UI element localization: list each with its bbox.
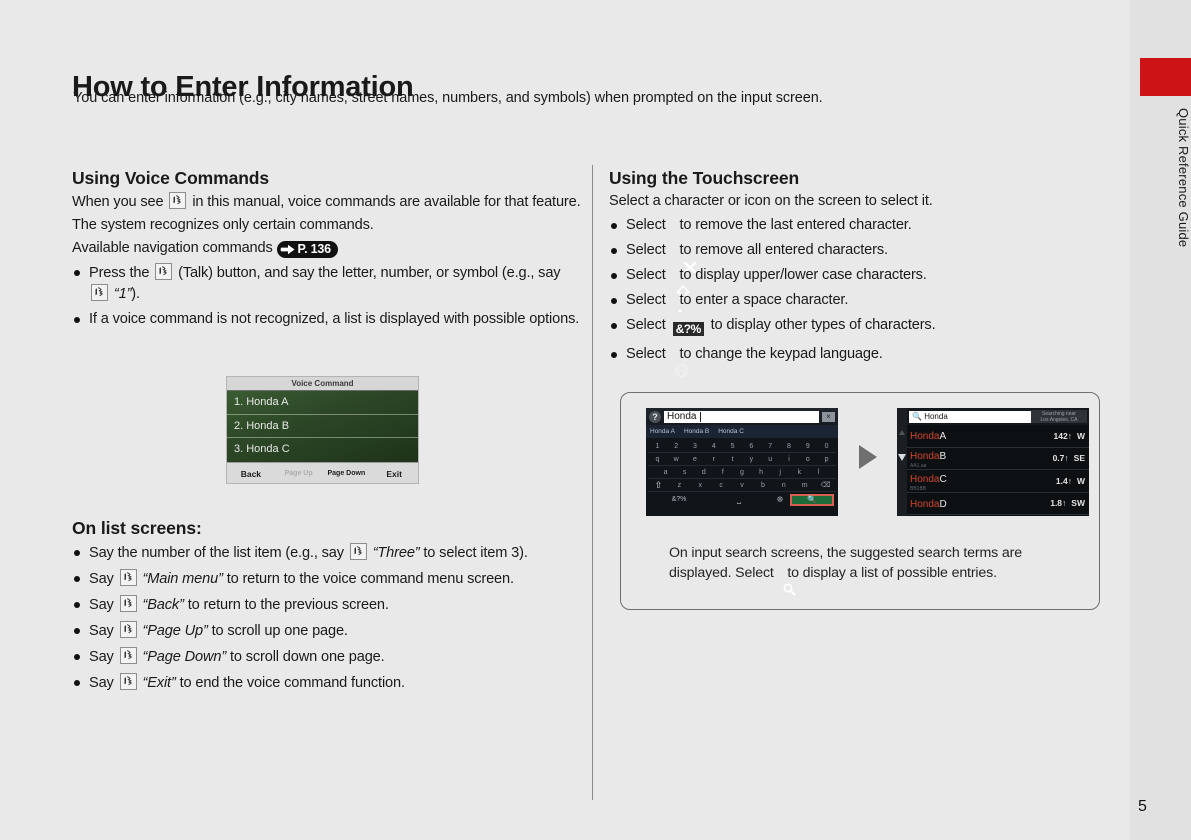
bullet-1-c: ). <box>131 286 140 302</box>
side-tab-marker <box>1140 58 1191 96</box>
result-distance: 0.7↑SE <box>1053 453 1085 463</box>
voice-intro-b: in this manual, voice commands are avail… <box>192 194 580 210</box>
list-item: Select to display upper/lower case chara… <box>609 266 1109 286</box>
manual-page: Quick Reference Guide How to Enter Infor… <box>0 0 1191 840</box>
bullet-quote: “Page Down” <box>143 649 227 665</box>
keyboard-row-numbers: 1 2 3 4 5 6 7 8 9 0 <box>648 440 836 453</box>
right-arrow-icon <box>280 244 296 255</box>
bullet-text-a: Say <box>89 597 114 613</box>
key[interactable]: 5 <box>723 443 742 450</box>
talk-icon <box>120 595 137 612</box>
bullet-text-a: Say the number of the list item (e.g., s… <box>89 545 344 561</box>
key[interactable]: l <box>809 469 828 476</box>
table-row[interactable]: HondaD 1.8↑SW <box>907 493 1089 516</box>
search-button[interactable]: 🔍 <box>790 494 834 506</box>
result-suffix: D <box>939 499 946 510</box>
voice-bullet-list: Press the (Talk) button, and say the let… <box>72 263 582 330</box>
result-brand: Honda <box>910 431 939 442</box>
on-list-screens-block: On list screens: Say the number of the l… <box>72 518 582 699</box>
bullet-text-a: Select <box>626 346 666 362</box>
table-row[interactable]: HondaC BB1BB 1.4↑W <box>907 470 1089 493</box>
right-column: Using the Touchscreen Select a character… <box>609 168 1109 370</box>
key[interactable]: z <box>669 482 690 489</box>
key[interactable]: q <box>648 456 667 463</box>
talk-icon <box>155 263 172 280</box>
key[interactable]: f <box>713 469 732 476</box>
result-distance: 1.4↑W <box>1056 476 1085 486</box>
result-distance: 142↑W <box>1054 431 1085 441</box>
key[interactable]: d <box>694 469 713 476</box>
keyboard-row-q: q w e r t y u i o p <box>648 453 836 466</box>
result-distance-value: 1.4↑ <box>1056 476 1072 486</box>
talk-icon <box>120 569 137 586</box>
key[interactable]: h <box>752 469 771 476</box>
help-icon[interactable]: ? <box>649 411 661 423</box>
bullet-quote: “Page Up” <box>143 623 208 639</box>
result-suffix: A <box>939 431 946 442</box>
suggestion-item[interactable]: Honda A <box>650 428 675 435</box>
result-suffix: B <box>939 451 946 462</box>
key[interactable]: 0 <box>817 443 836 450</box>
key[interactable]: x <box>690 482 711 489</box>
touchscreen-bullets: Select to remove the last entered charac… <box>609 216 1109 365</box>
bullet-quote: “Main menu” <box>143 571 223 587</box>
key[interactable]: 6 <box>742 443 761 450</box>
result-brand: Honda <box>910 499 939 510</box>
list-item: Press the (Talk) button, and say the let… <box>72 263 582 305</box>
voice-intro-a: When you see <box>72 194 164 210</box>
voice-command-list: 1. Honda A 2. Honda B 3. Honda C <box>227 390 418 462</box>
result-direction: SW <box>1071 498 1085 508</box>
list-item: Say “Main menu” to return to the voice c… <box>72 569 582 590</box>
list-item: Select to remove the last entered charac… <box>609 216 1109 236</box>
suggestion-item[interactable]: Honda B <box>684 428 709 435</box>
bullet-text-b: to scroll up one page. <box>212 623 348 639</box>
bullet-text-a: Say <box>89 675 114 691</box>
results-search-value: Honda <box>924 412 948 421</box>
result-name: HondaA <box>910 427 1054 444</box>
result-suffix: C <box>939 474 946 485</box>
keyboard-title-bar: ? Honda × <box>646 408 838 425</box>
key[interactable]: y <box>742 456 761 463</box>
result-sub: AA1.aa <box>910 464 1053 469</box>
bullet-1-b: (Talk) button, and say the letter, numbe… <box>178 265 560 281</box>
list-item: Say “Exit” to end the voice command func… <box>72 673 582 694</box>
list-item: Select &?% to display other types of cha… <box>609 316 1109 340</box>
key[interactable]: 4 <box>704 443 723 450</box>
result-direction: W <box>1077 431 1085 441</box>
list-item: Select to enter a space character. <box>609 291 1109 311</box>
key[interactable]: g <box>732 469 751 476</box>
caption-text-b: to display a list of possible entries. <box>787 565 997 581</box>
key[interactable]: m <box>794 482 815 489</box>
result-name: HondaD <box>910 495 1050 512</box>
voice-command-screenshot: Voice Command 1. Honda A 2. Honda B 3. H… <box>226 376 419 484</box>
talk-icon <box>120 647 137 664</box>
bullet-text-a: Select <box>626 242 666 258</box>
searching-near-label: Searching near Los Angeles, CA <box>1031 410 1087 423</box>
exit-button[interactable]: Exit <box>370 470 418 479</box>
key[interactable]: k <box>790 469 809 476</box>
bullet-text-a: Say <box>89 571 114 587</box>
voice-para-3-text: Available navigation commands <box>72 240 273 256</box>
bullet-text-b: to end the voice command function. <box>180 675 405 691</box>
list-item: Say “Back” to return to the previous scr… <box>72 595 582 616</box>
bullet-quote: “Back” <box>143 597 184 613</box>
left-column: Using Voice Commands When you see in thi… <box>72 168 582 334</box>
key[interactable]: b <box>752 482 773 489</box>
touchscreen-intro: Select a character or icon on the screen… <box>609 192 1109 212</box>
key[interactable]: n <box>773 482 794 489</box>
keyboard-row-z: ⇧ z x c v b n m ⌫ <box>648 479 836 492</box>
symbols-key-icon: &?% <box>673 320 704 340</box>
keyboard-rows: 1 2 3 4 5 6 7 8 9 0 q w e r t y <box>646 438 838 506</box>
list-item: If a voice command is not recognized, a … <box>72 310 582 330</box>
bullet-text-b: to enter a space character. <box>679 292 848 308</box>
result-distance-value: 142↑ <box>1054 431 1072 441</box>
table-row[interactable]: HondaA 142↑W <box>907 425 1089 448</box>
voice-para-3: Available navigation commands P. 136 <box>72 239 582 259</box>
list-item: Select to remove all entered characters. <box>609 241 1109 261</box>
bullet-quote: “Exit” <box>143 675 176 691</box>
results-screen: 🔍 Honda Searching near Los Angeles, CA H… <box>897 408 1089 516</box>
flow-arrow-icon <box>859 445 877 469</box>
result-distance-value: 0.7↑ <box>1053 453 1069 463</box>
bullet-quote: “Three” <box>373 545 420 561</box>
searching-near-line2: Los Angeles, CA <box>1031 417 1087 423</box>
bullet-text-a: Say <box>89 649 114 665</box>
search-icon: 🔍 <box>912 412 922 421</box>
bullet-1-quote: “1” <box>114 286 131 302</box>
space-key-icon[interactable]: ⎵ <box>708 494 770 505</box>
scroll-up-icon[interactable] <box>899 430 905 435</box>
result-brand: Honda <box>910 474 939 485</box>
keyboard-screen: ? Honda × Honda A Honda B Honda C 1 2 3 … <box>646 408 838 516</box>
page-number: 5 <box>1138 798 1147 816</box>
page-reference-badge[interactable]: P. 136 <box>277 241 338 258</box>
key[interactable]: a <box>656 469 675 476</box>
key[interactable]: 9 <box>798 443 817 450</box>
side-tab-label: Quick Reference Guide <box>1130 108 1191 247</box>
suggestion-bar: Honda A Honda B Honda C <box>646 425 838 438</box>
voice-para-2: The system recognizes only certain comma… <box>72 216 582 236</box>
result-direction: W <box>1077 476 1085 486</box>
bullet-text-a: Select <box>626 317 666 333</box>
list-item[interactable]: 2. Honda B <box>227 415 418 439</box>
page-down-button[interactable]: Page Down <box>323 470 371 477</box>
key[interactable]: s <box>675 469 694 476</box>
list-item[interactable]: 3. Honda C <box>227 438 418 462</box>
search-input[interactable]: Honda <box>664 411 819 423</box>
on-list-screens-bullets: Say the number of the list item (e.g., s… <box>72 543 582 694</box>
symbols-key-label: &?% <box>673 322 704 336</box>
scroll-down-icon[interactable] <box>898 454 906 461</box>
section-heading-on-list-screens: On list screens: <box>72 518 582 539</box>
bullet-text-a: Say <box>89 623 114 639</box>
bullet-1-a: Press the <box>89 265 149 281</box>
key[interactable]: p <box>817 456 836 463</box>
key[interactable]: e <box>686 456 705 463</box>
column-divider <box>592 165 593 800</box>
bullet-text-a: Select <box>626 292 666 308</box>
bullet-text-b: to return to the previous screen. <box>188 597 389 613</box>
result-direction: SE <box>1074 453 1085 463</box>
close-icon[interactable]: × <box>822 412 835 422</box>
backspace-key-icon[interactable]: ⌫ <box>815 481 836 489</box>
bullet-text-b: to return to the voice command menu scre… <box>227 571 514 587</box>
result-sub: BB1BB <box>910 487 1056 492</box>
talk-icon <box>91 284 108 301</box>
key[interactable]: 8 <box>780 443 799 450</box>
key[interactable]: u <box>761 456 780 463</box>
key[interactable]: 1 <box>648 443 667 450</box>
keyboard-bottom-row: &?% ⎵ ☸ 🔍 <box>648 493 836 506</box>
result-distance: 1.8↑SW <box>1050 498 1085 508</box>
back-button[interactable]: Back <box>227 470 275 479</box>
talk-icon <box>350 543 367 560</box>
bullet-text-b: to change the keypad language. <box>679 346 882 362</box>
key[interactable]: r <box>704 456 723 463</box>
list-item: Say “Page Down” to scroll down one page. <box>72 647 582 668</box>
bullet-text-b: to display other types of characters. <box>711 317 936 333</box>
symbols-key[interactable]: &?% <box>650 496 708 503</box>
side-tab: Quick Reference Guide <box>1130 0 1191 840</box>
page-up-button[interactable]: Page Up <box>275 470 323 477</box>
page-reference-label: P. 136 <box>298 241 331 258</box>
results-main: 🔍 Honda Searching near Los Angeles, CA H… <box>907 408 1089 516</box>
result-distance-value: 1.8↑ <box>1050 498 1066 508</box>
key[interactable]: o <box>798 456 817 463</box>
key[interactable]: 3 <box>686 443 705 450</box>
globe-language-key-icon[interactable]: ☸ <box>770 495 790 504</box>
bullet-text-b: to remove all entered characters. <box>679 242 887 258</box>
key[interactable]: i <box>780 456 799 463</box>
scroll-rail[interactable] <box>897 408 907 516</box>
voice-command-screen-title: Voice Command <box>227 377 418 390</box>
bullet-text-a: Select <box>626 217 666 233</box>
keyboard-row-a: a s d f g h j k l <box>648 466 836 479</box>
list-item: Say “Page Up” to scroll up one page. <box>72 621 582 642</box>
talk-icon <box>169 192 186 209</box>
list-item: Say the number of the list item (e.g., s… <box>72 543 582 564</box>
voice-command-footer: Back Page Up Page Down Exit <box>227 462 418 484</box>
results-search-input[interactable]: 🔍 Honda <box>909 411 1031 423</box>
result-brand: Honda <box>910 451 939 462</box>
result-name: HondaB AA1.aa <box>910 447 1053 469</box>
shift-key-icon[interactable]: ⇧ <box>648 480 669 491</box>
talk-icon <box>120 621 137 638</box>
bullet-text-b: to remove the last entered character. <box>679 217 911 233</box>
suggestion-item[interactable]: Honda C <box>718 428 744 435</box>
results-top-bar: 🔍 Honda Searching near Los Angeles, CA <box>907 408 1089 425</box>
section-heading-touchscreen: Using the Touchscreen <box>609 168 1109 189</box>
result-name: HondaC BB1BB <box>910 470 1056 492</box>
key[interactable]: 7 <box>761 443 780 450</box>
voice-intro-paragraph: When you see in this manual, voice comma… <box>72 192 582 213</box>
table-row[interactable]: HondaB AA1.aa 0.7↑SE <box>907 448 1089 471</box>
key[interactable]: v <box>732 482 753 489</box>
key[interactable]: w <box>667 456 686 463</box>
key[interactable]: 2 <box>667 443 686 450</box>
talk-icon <box>120 673 137 690</box>
bullet-text-b: to scroll down one page. <box>230 649 385 665</box>
key[interactable]: t <box>723 456 742 463</box>
bullet-text-a: Select <box>626 267 666 283</box>
key[interactable]: j <box>771 469 790 476</box>
section-heading-voice-commands: Using Voice Commands <box>72 168 582 189</box>
list-item[interactable]: 1. Honda A <box>227 391 418 415</box>
list-item: Select to change the keypad language. <box>609 345 1109 365</box>
screenshot-caption: On input search screens, the suggested s… <box>669 543 1079 583</box>
page-subtitle: You can enter information (e.g., city na… <box>73 90 823 106</box>
screenshot-panel: ? Honda × Honda A Honda B Honda C 1 2 3 … <box>620 392 1100 610</box>
key[interactable]: c <box>711 482 732 489</box>
bullet-text-b: to select item 3). <box>423 545 527 561</box>
bullet-text-b: to display upper/lower case characters. <box>679 267 926 283</box>
